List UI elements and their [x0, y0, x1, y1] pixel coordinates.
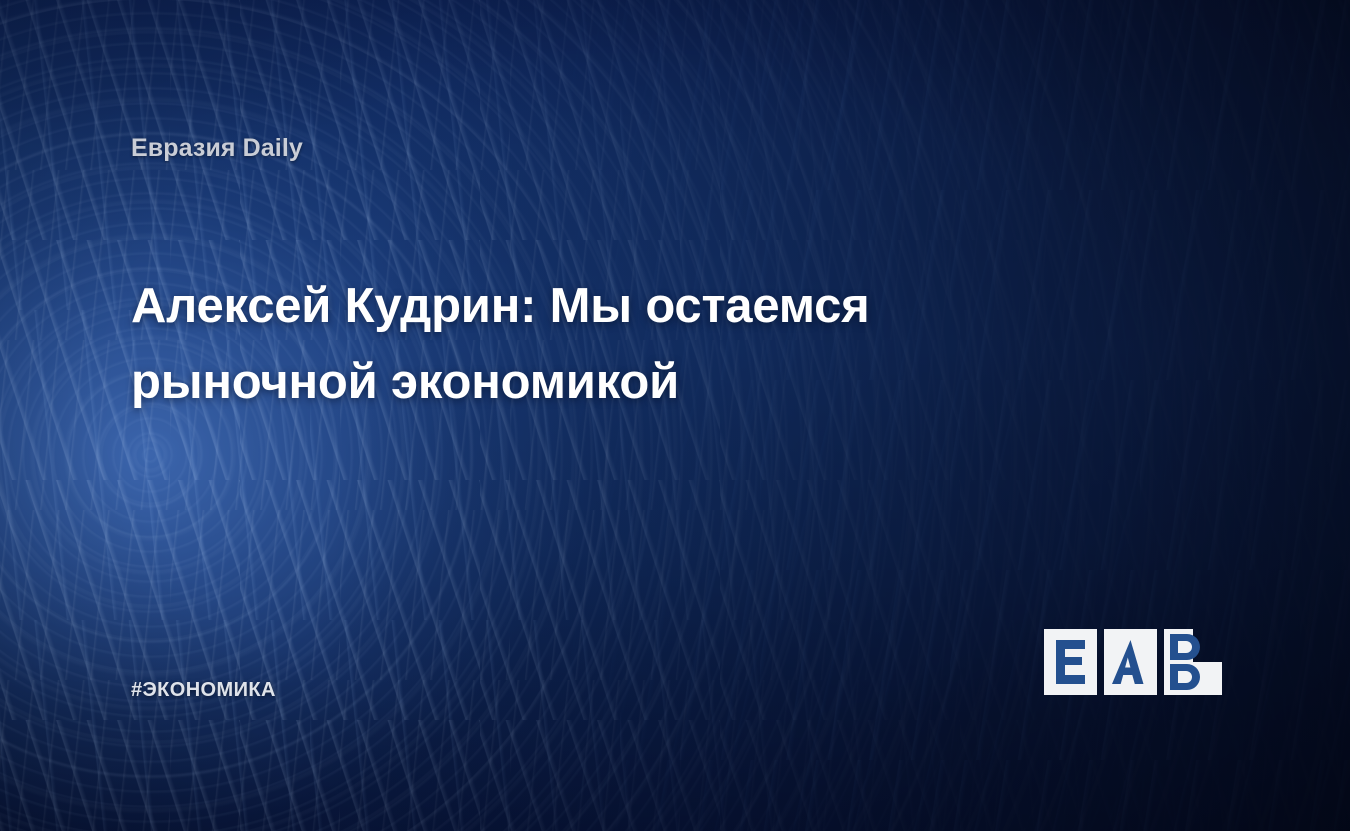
category-hashtag: #ЭКОНОМИКА: [131, 679, 276, 702]
logo-letter-e: [1056, 640, 1085, 684]
ead-logo: [1044, 629, 1222, 695]
brand-name: Евразия Daily: [131, 134, 303, 163]
share-card: Евразия Daily Алексей Кудрин: Мы остаемс…: [0, 0, 1350, 831]
headline: Алексей Кудрин: Мы остаемся рыночной эко…: [131, 268, 1011, 420]
card-content: Евразия Daily Алексей Кудрин: Мы остаемс…: [0, 0, 1350, 831]
